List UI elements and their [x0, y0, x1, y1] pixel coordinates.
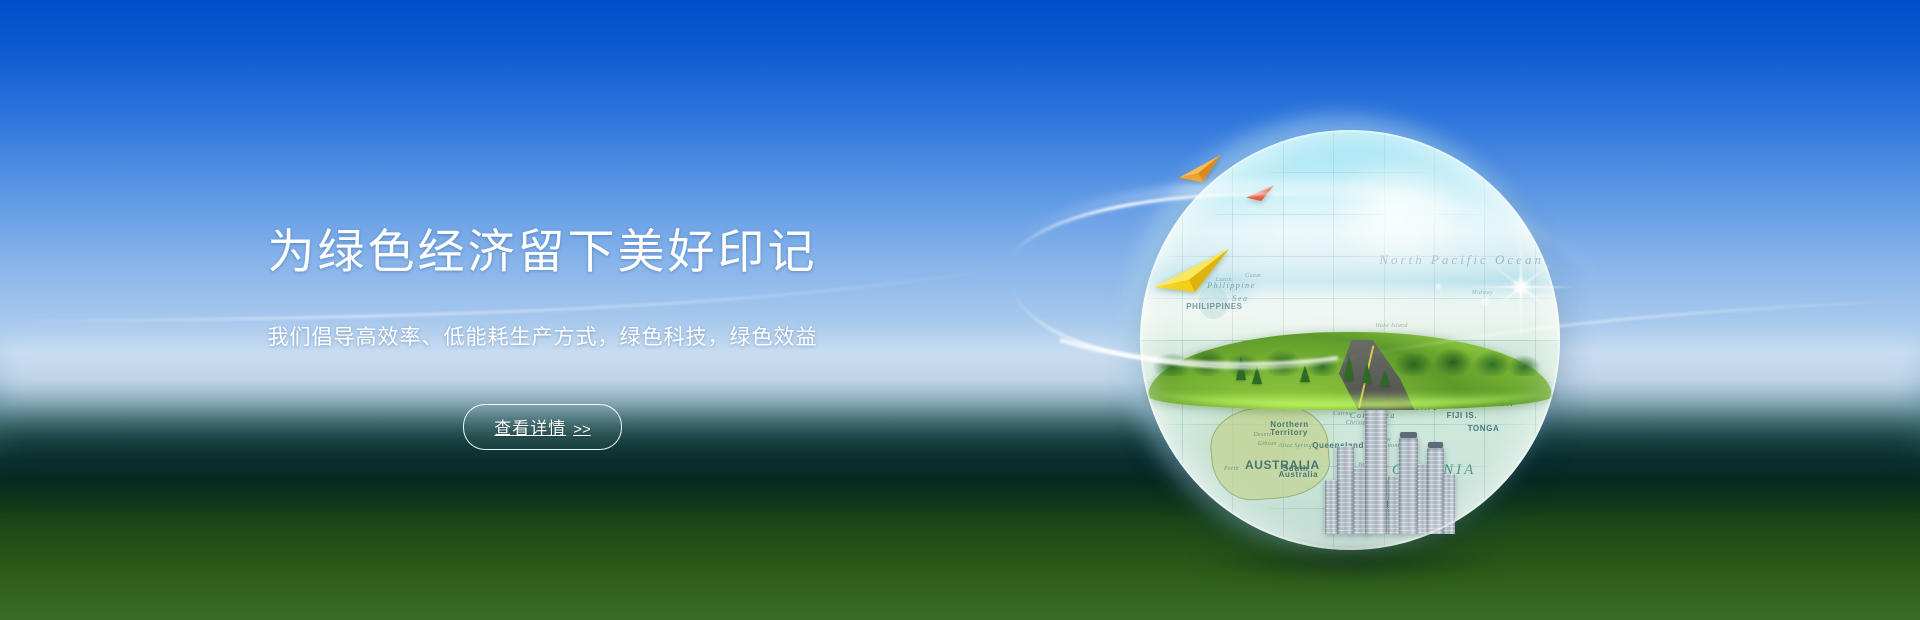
- view-details-button[interactable]: 查看详情>>: [463, 404, 622, 450]
- hero-banner: North Pacific OceanPHILIPPINESPhilippine…: [0, 0, 1920, 620]
- map-label: TUVALU: [1442, 390, 1477, 399]
- map-label: Lord Howe: [1384, 479, 1414, 485]
- map-label: North Island: [1396, 487, 1430, 493]
- map-label: Tasman Sea: [1363, 508, 1395, 514]
- map-label: OCEANIA: [1392, 462, 1476, 479]
- map-label: Darwin: [1262, 390, 1282, 396]
- map-label: Cairns: [1333, 411, 1351, 417]
- map-label: Territory: [1270, 428, 1308, 437]
- map-label: Wake Island: [1375, 323, 1408, 329]
- cta-container: 查看详情>>: [0, 404, 1085, 450]
- map-label: Midway: [1472, 290, 1493, 296]
- map-label: Perth: [1224, 466, 1239, 472]
- map-label: Guam: [1245, 273, 1261, 279]
- map-label: Queensland: [1312, 441, 1364, 450]
- map-label: Christerfield: [1346, 420, 1381, 426]
- map-label: New: [1379, 437, 1391, 443]
- map-label: VANUATU: [1396, 403, 1438, 412]
- globe-sphere: North Pacific OceanPHILIPPINESPhilippine…: [1140, 130, 1560, 550]
- map-label: Desert: [1253, 432, 1271, 438]
- map-label: Tokelau: [1501, 378, 1522, 384]
- map-label: PHILIPPINES: [1186, 302, 1242, 311]
- map-label: SAMOA: [1480, 399, 1513, 408]
- map-label: NEW GUINEA: [1279, 376, 1337, 385]
- map-label: Brisbane: [1358, 462, 1382, 468]
- cta-label: 查看详情: [494, 419, 566, 438]
- longitude-line: [1434, 130, 1435, 550]
- map-label: Torres Strait: [1300, 388, 1334, 394]
- map-label: SOLOMON: [1363, 365, 1409, 374]
- map-label: Alice Springs: [1279, 443, 1315, 449]
- chevron-right-icon: >>: [573, 421, 591, 438]
- map-label: Gibson: [1258, 441, 1277, 447]
- page-title: 为绿色经济留下美好印记: [0, 224, 1085, 280]
- map-label: Phoenix Is.: [1484, 369, 1514, 375]
- map-label: North Pacific Ocean: [1379, 252, 1544, 268]
- map-label: Australia: [1279, 470, 1319, 479]
- globe-illustration: North Pacific OceanPHILIPPINESPhilippine…: [1100, 95, 1620, 615]
- longitude-line: [1535, 130, 1536, 550]
- orbit-swoosh: [0, 0, 1920, 620]
- map-label: TONGA: [1468, 424, 1500, 433]
- map-label: Sydney: [1350, 487, 1369, 493]
- map-label: ISLANDS: [1367, 376, 1406, 385]
- latitude-line: [1210, 214, 1490, 215]
- map-label: Caledonia: [1375, 443, 1403, 449]
- map-label: FIJI IS.: [1447, 411, 1478, 420]
- map-label: PAPUA: [1287, 365, 1317, 374]
- map-label: ACT: [1363, 493, 1375, 499]
- page-subtitle: 我们倡导高效率、低能耗生产方式，绿色科技，绿色效益: [0, 324, 1085, 351]
- map-label: INDONESIA: [1178, 369, 1228, 378]
- latitude-line: [1268, 172, 1431, 173]
- latitude-line: [1140, 340, 1560, 341]
- latitude-line: [1140, 382, 1560, 383]
- longitude-line: [1182, 130, 1183, 550]
- map-label: Sea: [1232, 294, 1248, 303]
